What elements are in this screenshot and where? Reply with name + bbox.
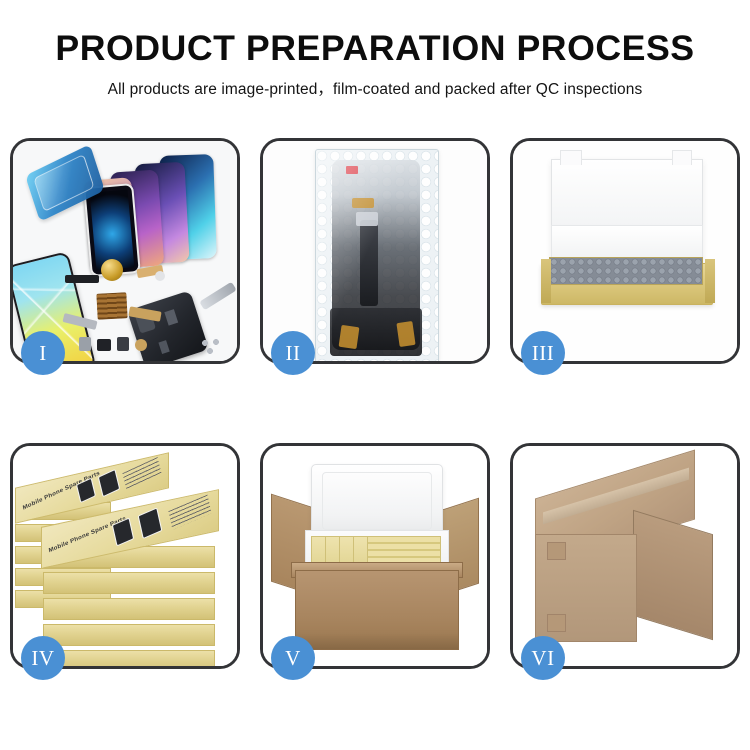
box-spec-lines: [122, 457, 161, 490]
step-badge-6: VI: [521, 636, 565, 680]
lcd-connector: [356, 212, 378, 226]
box-artwork-thumb: [138, 507, 163, 539]
lcd-lower-section: [330, 308, 422, 356]
box-side-right: [705, 259, 715, 303]
step-panel-boxed-stack: Mobile Phone Spare Parts Mobile Phone Sp…: [10, 443, 240, 669]
step-image-raw-components: [13, 141, 237, 361]
page-title: PRODUCT PREPARATION PROCESS: [0, 30, 750, 69]
foam-lid: [311, 464, 443, 538]
lcd-screen: [332, 160, 420, 350]
step-image-bubble-wrapping: [263, 141, 487, 361]
flex-cable-part: [65, 275, 99, 283]
carton-handle-cut: [547, 614, 566, 632]
small-part: [97, 339, 111, 351]
step-image-inner-box-packing: [513, 141, 737, 361]
step-panel-carton-loading: V: [260, 443, 490, 669]
screws-icon: [201, 339, 227, 355]
carton-handle-cut: [547, 542, 566, 560]
step-image-carton-loading: [263, 446, 487, 666]
gold-contact: [339, 325, 360, 349]
header: PRODUCT PREPARATION PROCESS All products…: [0, 0, 750, 99]
step-panel-raw-components: I: [10, 138, 240, 364]
product-preparation-infographic: PRODUCT PREPARATION PROCESS All products…: [0, 0, 750, 750]
step-image-boxed-stack: Mobile Phone Spare Parts Mobile Phone Sp…: [13, 446, 237, 666]
box-side-left: [541, 259, 551, 303]
small-part: [135, 339, 147, 351]
page-subtitle: All products are image-printed，film-coat…: [0, 81, 750, 100]
red-label: [346, 166, 358, 174]
carton-body: [295, 570, 459, 650]
speaker-coil-icon: [101, 259, 123, 281]
steps-grid: I II: [10, 138, 740, 669]
step-panel-bubble-wrapping: II: [260, 138, 490, 364]
bubble-wrap-bag: [315, 149, 439, 361]
step-panel-inner-box-packing: III: [510, 138, 740, 364]
step-badge-5: V: [271, 636, 315, 680]
step-badge-2: II: [271, 331, 315, 375]
step-image-sealed-carton: [513, 446, 737, 666]
chip-icon: [96, 292, 127, 320]
lcd-flex-ribbon: [360, 220, 378, 306]
gold-contact: [352, 198, 374, 208]
box-spec-lines: [168, 495, 211, 530]
step-panel-sealed-carton: VI: [510, 443, 740, 669]
small-part: [155, 271, 165, 281]
small-part: [117, 337, 129, 351]
step-badge-3: III: [521, 331, 565, 375]
step-badge-1: I: [21, 331, 65, 375]
step-badge-4: IV: [21, 636, 65, 680]
gold-contact: [396, 321, 415, 347]
small-part: [79, 337, 91, 351]
box-artwork-thumb: [98, 469, 120, 497]
packed-item: [549, 257, 703, 285]
